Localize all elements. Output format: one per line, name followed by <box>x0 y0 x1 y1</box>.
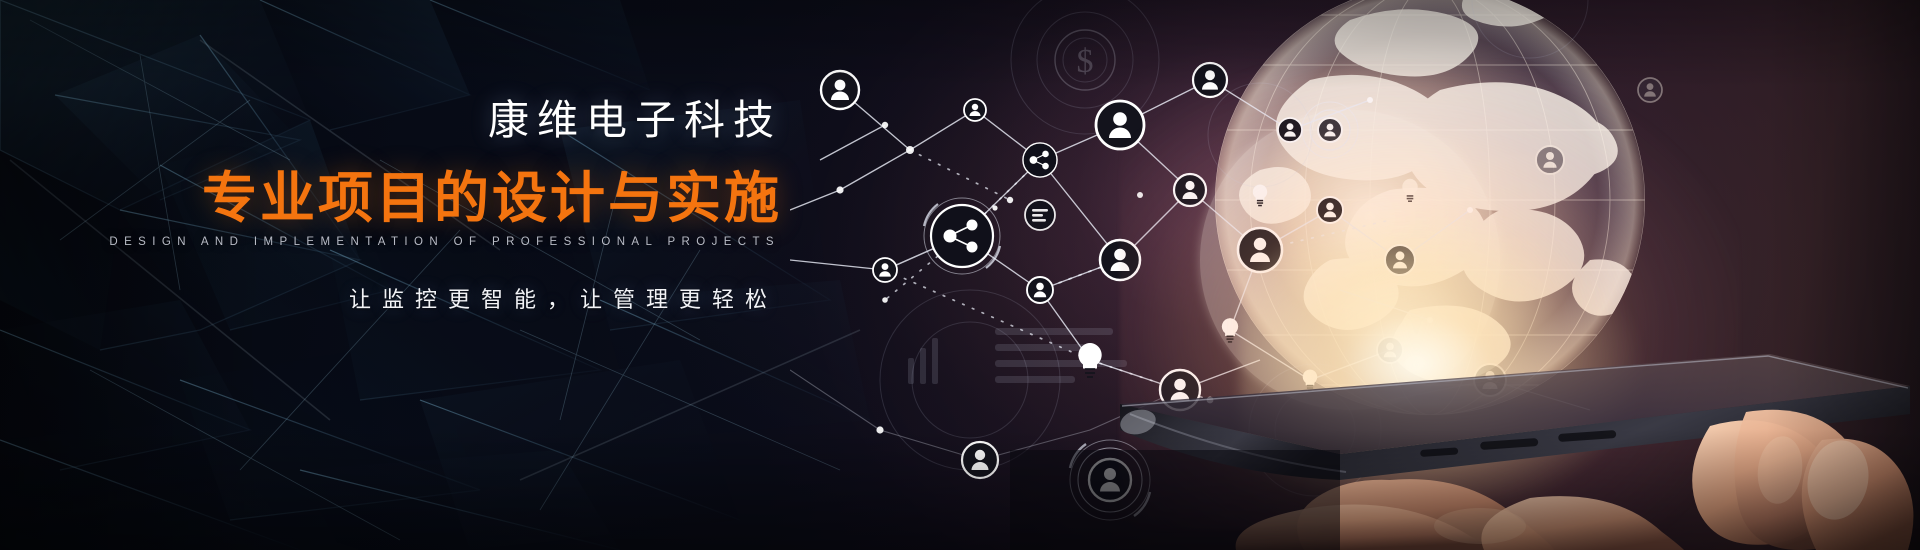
headline-english: DESIGN AND IMPLEMENTATION OF PROFESSIONA… <box>0 236 782 248</box>
person-node <box>1377 337 1403 363</box>
person-node <box>962 442 998 478</box>
lightbulb-icon <box>1303 369 1317 390</box>
person-node <box>821 71 859 109</box>
lightbulb-icon <box>1222 318 1238 342</box>
person-node <box>1474 364 1506 396</box>
globe-hotspot-glow <box>1240 200 1660 500</box>
person-node <box>964 99 986 121</box>
person-node <box>1536 146 1564 174</box>
globe-core-glow <box>1120 60 1740 530</box>
person-node <box>1317 197 1343 223</box>
person-node <box>1638 78 1662 102</box>
person-node <box>1096 101 1144 149</box>
lightbulb-icon <box>1253 184 1267 205</box>
bar-chart-icon <box>1025 200 1055 230</box>
person-node <box>1238 228 1282 272</box>
person-node <box>1193 63 1227 97</box>
headline: 专业项目的设计与实施 <box>0 166 782 231</box>
network-globe-artwork: $ <box>790 0 1920 550</box>
person-node <box>873 258 897 282</box>
company-title: 康维电子科技 <box>0 95 782 146</box>
person-node <box>1160 370 1200 410</box>
svg-text:$: $ <box>1077 43 1094 80</box>
purple-ambient-glow <box>980 0 1500 420</box>
dollar-icon: $ <box>1055 30 1115 90</box>
share-nodes-icon <box>1023 143 1057 177</box>
lightbulb-icon <box>1078 343 1101 377</box>
tagline: 让监控更智能，让管理更轻松 <box>0 282 782 314</box>
person-node <box>1385 245 1415 275</box>
earth-globe <box>1200 0 1645 415</box>
lightbulb-icon <box>1402 179 1417 201</box>
network-nodes <box>821 63 1662 478</box>
share-nodes-icon <box>924 198 1000 274</box>
hero-copy: 康维电子科技 专业项目的设计与实施 DESIGN AND IMPLEMENTAT… <box>0 95 800 314</box>
person-node <box>1100 240 1140 280</box>
person-node <box>1278 118 1302 142</box>
person-node <box>1027 277 1053 303</box>
hand-holding-smartphone <box>1010 330 1920 550</box>
hud-person-node <box>1070 440 1150 520</box>
hero-banner: $ <box>0 0 1920 550</box>
target-icon <box>1302 102 1358 158</box>
person-node <box>1174 174 1206 206</box>
